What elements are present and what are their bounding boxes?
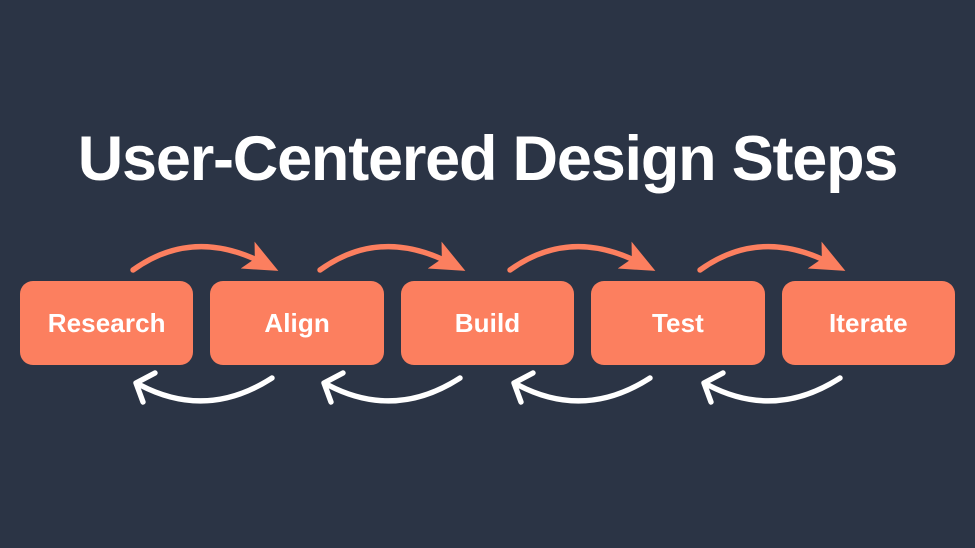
step-box-research[interactable]: Research (20, 281, 193, 365)
feedback-arrow-build-align (328, 378, 460, 401)
feedback-arrow-test-build (518, 378, 650, 401)
process-flow-diagram: Research Align Build Test Iterate (0, 0, 975, 548)
step-boxes-row: Research Align Build Test Iterate (20, 281, 955, 365)
forward-arrow-align-build (320, 247, 450, 270)
step-label-build: Build (455, 308, 521, 339)
step-box-build[interactable]: Build (401, 281, 574, 365)
feedback-arrowhead-test-build (514, 373, 533, 402)
arrow-layer (0, 0, 975, 548)
step-box-iterate[interactable]: Iterate (782, 281, 955, 365)
step-box-align[interactable]: Align (210, 281, 383, 365)
feedback-arrowhead-build-align (324, 373, 343, 402)
step-label-test: Test (652, 308, 704, 339)
feedback-arrow-group (136, 373, 840, 402)
step-label-research: Research (48, 308, 166, 339)
feedback-arrow-align-research (140, 378, 272, 401)
step-label-iterate: Iterate (829, 308, 908, 339)
forward-arrow-build-test (510, 247, 640, 270)
step-label-align: Align (264, 308, 330, 339)
step-box-test[interactable]: Test (591, 281, 764, 365)
forward-arrow-group (133, 247, 830, 270)
forward-arrow-research-align (133, 247, 263, 270)
forward-arrow-test-iterate (700, 247, 830, 270)
feedback-arrowhead-align-research (136, 373, 155, 402)
slide-canvas: User-Centered Design Steps (0, 0, 975, 548)
feedback-arrow-iterate-test (708, 378, 840, 401)
feedback-arrowhead-iterate-test (704, 373, 723, 402)
